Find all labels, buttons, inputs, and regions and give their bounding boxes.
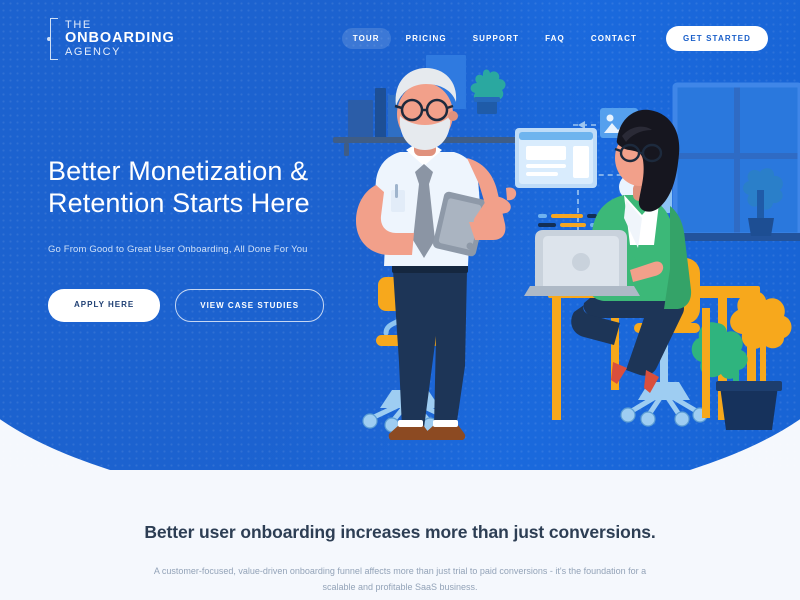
floating-ui-card — [515, 128, 597, 188]
accent-bar — [702, 308, 710, 418]
laptop — [524, 230, 640, 296]
view-case-studies-button[interactable]: VIEW CASE STUDIES — [175, 289, 324, 322]
brand-logo[interactable]: THE ONBOARDING AGENCY — [44, 18, 175, 60]
intro-section: Better user onboarding increases more th… — [0, 470, 800, 600]
hero-copy: Better Monetization & Retention Starts H… — [48, 155, 378, 322]
bracket-logo-mark-icon — [44, 18, 58, 60]
shelf-potted-plant — [471, 70, 506, 114]
office-scene-illustration — [330, 40, 800, 440]
window — [663, 85, 800, 241]
brand-line-3: AGENCY — [65, 47, 175, 59]
brand-line-2: ONBOARDING — [65, 31, 175, 46]
hero-headline-line-1: Better Monetization & — [48, 156, 308, 186]
hero-section: THE ONBOARDING AGENCY TOUR PRICING SUPPO… — [0, 0, 800, 470]
hero-subtitle: Go From Good to Great User Onboarding, A… — [48, 244, 378, 255]
hero-headline-line-2: Retention Starts Here — [48, 188, 310, 218]
section-body: A customer-focused, value-driven onboard… — [140, 564, 660, 596]
hero-button-group: APPLY HERE VIEW CASE STUDIES — [48, 289, 378, 322]
connector-arrow-left — [578, 121, 585, 129]
hero-headline: Better Monetization & Retention Starts H… — [48, 155, 378, 220]
section-title: Better user onboarding increases more th… — [0, 522, 800, 543]
woman-heel-left — [611, 362, 627, 384]
apply-here-button[interactable]: APPLY HERE — [48, 289, 160, 322]
section-body-line-1: A customer-focused, value-driven onboard… — [154, 566, 581, 576]
